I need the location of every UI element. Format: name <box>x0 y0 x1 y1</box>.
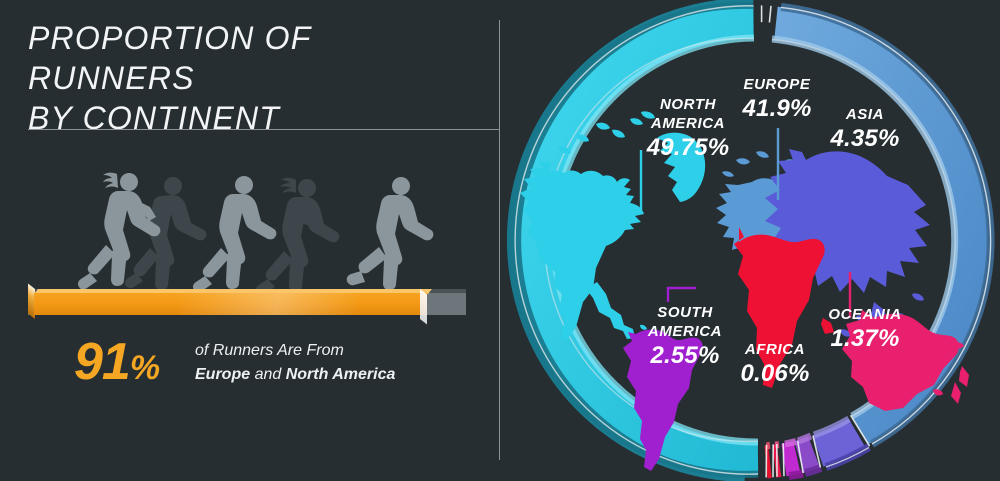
stat-region-europe: Europe <box>195 366 250 383</box>
chart-labels: NORTH AMERICA 49.75% EUROPE 41.9% ASIA 4… <box>500 0 1000 481</box>
label-name-asia: ASIA <box>805 105 925 124</box>
stat-number: 91% <box>74 333 159 397</box>
runner-silhouette-4 <box>256 178 339 305</box>
left-panel: PROPORTION OF RUNNERS BY CONTINENT <box>0 0 500 481</box>
headline-stat: 91% of Runners Are From Europe and North… <box>60 333 480 403</box>
label-name-oceania: OCEANIA <box>800 305 930 324</box>
stat-line-1: of Runners Are From <box>195 342 344 359</box>
page-title: PROPORTION OF RUNNERS BY CONTINENT <box>28 18 478 138</box>
label-value-asia: 4.35% <box>805 124 925 153</box>
label-asia: ASIA 4.35% <box>805 105 925 153</box>
label-value-africa: 0.06% <box>715 359 835 388</box>
label-value-north-america: 49.75% <box>618 133 758 162</box>
runners-illustration <box>60 160 460 305</box>
stat-conjunction: and <box>250 366 286 383</box>
title-divider <box>28 129 499 130</box>
progress-bar <box>28 289 466 319</box>
stat-value: 91 <box>74 333 130 391</box>
infographic-canvas: PROPORTION OF RUNNERS BY CONTINENT <box>0 0 1000 481</box>
label-value-oceania: 1.37% <box>800 324 930 353</box>
label-oceania: OCEANIA 1.37% <box>800 305 930 353</box>
stat-region-north-america: North America <box>286 366 396 383</box>
label-name-europe: EUROPE <box>712 75 842 94</box>
stat-description: of Runners Are From Europe and North Ame… <box>195 339 495 387</box>
progress-bar-right-cap <box>420 289 427 324</box>
progress-bar-gloss <box>178 293 358 315</box>
right-panel: NORTH AMERICA 49.75% EUROPE 41.9% ASIA 4… <box>500 0 1000 481</box>
runner-silhouette-1 <box>78 173 160 303</box>
runner-silhouette-5 <box>347 177 434 305</box>
stat-percent-sign: % <box>130 349 159 387</box>
label-name-south-america: SOUTH AMERICA <box>615 303 755 341</box>
progress-bar-fill <box>28 289 427 319</box>
